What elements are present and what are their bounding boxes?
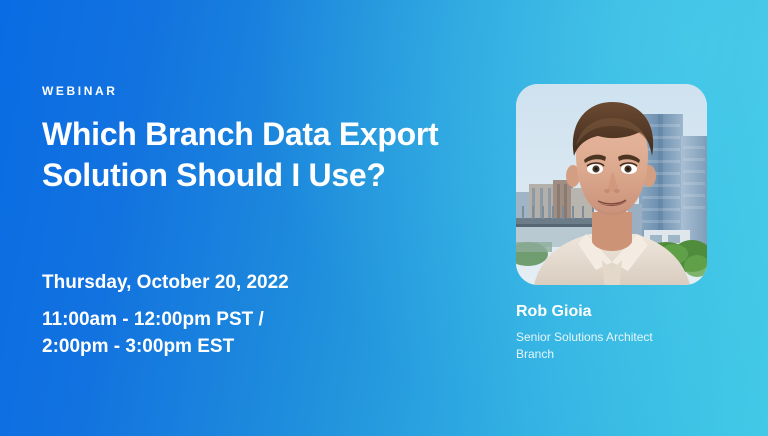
eyebrow-label: WEBINAR — [42, 84, 472, 98]
webinar-time-line-1: 11:00am - 12:00pm PST / — [42, 306, 264, 333]
webinar-time-line-2: 2:00pm - 3:00pm EST — [42, 333, 264, 360]
banner-content: WEBINAR Which Branch Data Export Solutio… — [0, 0, 768, 436]
speaker-organization: Branch — [516, 346, 726, 363]
webinar-time: 11:00am - 12:00pm PST / 2:00pm - 3:00pm … — [42, 306, 264, 360]
webinar-details: WEBINAR Which Branch Data Export Solutio… — [42, 84, 472, 196]
webinar-promo-banner: WEBINAR Which Branch Data Export Solutio… — [0, 0, 768, 436]
speaker-role: Senior Solutions Architect — [516, 329, 726, 346]
page-title: Which Branch Data Export Solution Should… — [42, 114, 442, 196]
avatar — [516, 84, 707, 285]
webinar-date: Thursday, October 20, 2022 — [42, 271, 289, 295]
speaker-headshot-image — [516, 84, 707, 285]
speaker-name: Rob Gioia — [516, 302, 726, 322]
speaker-card: Rob Gioia Senior Solutions Architect Bra… — [516, 84, 726, 363]
